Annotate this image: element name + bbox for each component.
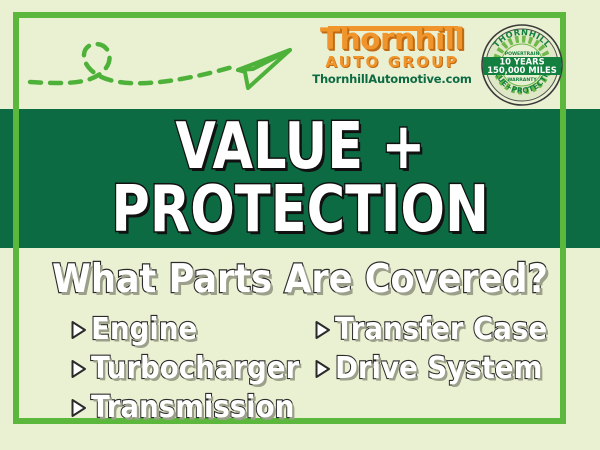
coverage-columns: Engine Turbocharger Transmission (0, 310, 600, 427)
covered-part-label: Turbocharger (91, 353, 299, 385)
coverage-column-left: Engine Turbocharger Transmission (70, 310, 320, 427)
list-item: Transfer Case (314, 310, 564, 349)
triangle-bullet-icon (70, 398, 87, 418)
warranty-seal-icon: THORNHILL VALUE+PROTECTION POWERTRAIN 10… (481, 24, 563, 106)
warranty-badge: THORNHILL VALUE+PROTECTION POWERTRAIN 10… (481, 24, 563, 106)
warranty-poster: Thornhill AUTO GROUP ThornhillAutomotive… (0, 0, 600, 450)
badge-warranty-label: WARRANTY (507, 77, 537, 83)
triangle-bullet-icon (314, 359, 331, 379)
website-url[interactable]: ThornhillAutomotive.com (312, 73, 472, 86)
covered-part-label: Transfer Case (335, 314, 547, 346)
covered-part-label: Engine (91, 314, 197, 346)
thornhill-logo[interactable]: Thornhill AUTO GROUP ThornhillAutomotive… (312, 24, 472, 104)
list-item: Transmission (70, 388, 320, 427)
logo-subtitle: AUTO GROUP (312, 54, 472, 71)
list-item: Turbocharger (70, 349, 320, 388)
coverage-section: What Parts Are Covered? Engine Turbochar… (0, 248, 600, 450)
list-item: Drive System (314, 349, 564, 388)
triangle-bullet-icon (70, 320, 87, 340)
headline-line-2: PROTECTION (111, 180, 489, 241)
triangle-bullet-icon (314, 320, 331, 340)
triangle-bullet-icon (70, 359, 87, 379)
headline-line-1: VALUE + (175, 117, 425, 178)
badge-miles: 150,000 MILES (487, 65, 557, 75)
coverage-question: What Parts Are Covered? (30, 258, 570, 302)
list-item: Engine (70, 310, 320, 349)
header-zone: Thornhill AUTO GROUP ThornhillAutomotive… (0, 0, 600, 109)
main-headline: VALUE + PROTECTION (0, 111, 600, 247)
logo-wordmark: Thornhill (310, 24, 473, 54)
coverage-column-right: Transfer Case Drive System (314, 310, 564, 388)
dashed-path-arrow-icon (24, 22, 304, 102)
covered-part-label: Drive System (335, 353, 542, 385)
covered-part-label: Transmission (91, 392, 294, 424)
